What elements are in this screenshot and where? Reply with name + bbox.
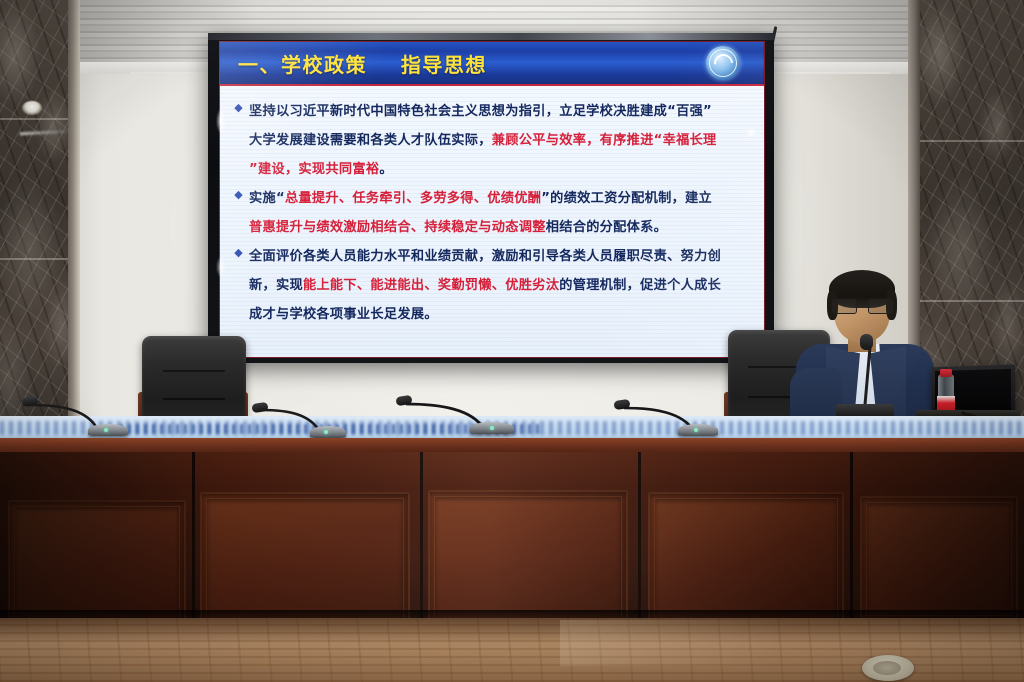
slide-text-normal: 实施“	[249, 191, 285, 206]
slide-text-highlight: 兼顾公平与效率，有序推进“幸福长理	[492, 133, 717, 148]
slide-bullet-item: ◆坚持以习近平新时代中国特色社会主义思想为指引，立足学校决胜建成“百强”	[232, 98, 748, 125]
slide-bullet-text: 坚持以习近平新时代中国特色社会主义思想为指引，立足学校决胜建成“百强”	[249, 98, 712, 125]
slide-bullet-text: ”建设，实现共同富裕。	[249, 156, 393, 183]
marble-seam	[918, 140, 1024, 142]
slide-text-normal: 全面评价各类人员能力水平和业绩贡献，激励和引导各类人员履职尽责、努力创	[249, 249, 721, 264]
projection-screen-display: 一、学校政策 指导思想 ◆坚持以习近平新时代中国特色社会主义思想为指引，立足学校…	[219, 41, 765, 358]
speaker-microphone-head	[860, 334, 873, 350]
marble-seam	[0, 258, 72, 260]
slide-bullet-continuation: 新，实现能上能下、能进能出、奖勤罚懒、优胜劣汰的管理机制，促进个人成长	[232, 272, 748, 299]
floor-outlet-cover-inner	[873, 661, 901, 675]
slide-text-highlight: 普惠提升与绩效激励相结合、持续稳定与动态调整	[249, 220, 546, 235]
mic-indicator-led	[490, 426, 494, 430]
screen-edge-glint-top	[216, 108, 226, 134]
slide-bullet-text: 新，实现能上能下、能进能出、奖勤罚懒、优胜劣汰的管理机制，促进个人成长	[249, 272, 721, 299]
glasses-bridge	[855, 304, 868, 306]
screen-hotspot	[745, 128, 757, 137]
slide-bullet-continuation: ”建设，实现共同富裕。	[232, 156, 748, 183]
chair-seam	[163, 370, 225, 372]
slide-bullet-text: 实施“总量提升、任务牵引、多劳多得、优绩优酬”的绩效工资分配机制，建立	[249, 185, 712, 212]
slide-text-normal: 坚持以习近平新时代中国特色社会主义思想为指引，立足学校决胜建成“百强”	[249, 104, 712, 119]
marble-seam	[0, 118, 72, 120]
conference-room-photo: 一、学校政策 指导思想 ◆坚持以习近平新时代中国特色社会主义思想为指引，立足学校…	[0, 0, 1024, 682]
diamond-bullet-icon	[232, 277, 245, 299]
slide-body: ◆坚持以习近平新时代中国特色社会主义思想为指引，立足学校决胜建成“百强”大学发展…	[220, 86, 764, 358]
slide-text-highlight: 总量提升、任务牵引、多劳多得、优绩优酬	[285, 191, 541, 206]
slide-bullet-item: ◆实施“总量提升、任务牵引、多劳多得、优绩优酬”的绩效工资分配机制，建立	[232, 185, 748, 212]
emblem-swoosh	[710, 50, 737, 77]
diamond-bullet-icon: ◆	[232, 248, 245, 270]
slide-title-bar: 一、学校政策 指导思想	[220, 42, 764, 86]
mic-base	[88, 424, 128, 436]
projection-screen-frame-highlight	[208, 33, 774, 40]
slide-title: 一、学校政策 指导思想	[238, 49, 487, 78]
slide-text-normal: 的管理机制，促进个人成长	[559, 278, 721, 293]
diamond-bullet-icon	[232, 132, 245, 154]
slide-text-normal: 新，实现	[249, 278, 303, 293]
diamond-bullet-icon	[232, 219, 245, 241]
diamond-bullet-icon	[232, 161, 245, 183]
slide-bullet-text: 普惠提升与绩效激励相结合、持续稳定与动态调整相结合的分配体系。	[249, 214, 667, 241]
marble-column-left-edge	[68, 0, 80, 450]
slide-text-normal: 成才与学校各项事业长足发展。	[249, 307, 438, 322]
slide-bullet-continuation: 大学发展建设需要和各类人才队伍实际，兼顾公平与效率，有序推进“幸福长理	[232, 127, 748, 154]
diamond-bullet-icon: ◆	[232, 190, 245, 212]
glasses-lens-right	[868, 299, 893, 314]
mic-indicator-led	[104, 428, 108, 432]
diamond-bullet-icon: ◆	[232, 103, 245, 125]
speaker-glasses	[832, 299, 892, 312]
slide-text-normal: 。	[379, 162, 393, 177]
slide-bullet-continuation: 成才与学校各项事业长足发展。	[232, 301, 748, 328]
bottle-cap	[940, 369, 952, 377]
slide-text-normal: 大学发展建设需要和各类人才队伍实际，	[249, 133, 492, 148]
mic-indicator-led	[694, 428, 698, 432]
chair-seam	[163, 398, 225, 400]
glasses-lens-left	[832, 299, 857, 314]
slide-bullet-item: ◆全面评价各类人员能力水平和业绩贡献，激励和引导各类人员履职尽责、努力创	[232, 243, 748, 270]
slide-text-normal: 相结合的分配体系。	[546, 220, 667, 235]
slide-bullet-text: 成才与学校各项事业长足发展。	[249, 301, 438, 328]
mic-base	[678, 424, 718, 436]
emblem-ring	[709, 49, 737, 77]
slide-text-normal: ”的绩效工资分配机制，建立	[541, 191, 712, 206]
slide-text-highlight: ”建设，实现共同富裕	[249, 162, 379, 177]
slide-bullet-continuation: 普惠提升与绩效激励相结合、持续稳定与动态调整相结合的分配体系。	[232, 214, 748, 241]
mic-indicator-led	[324, 430, 328, 434]
diamond-bullet-icon	[232, 306, 245, 328]
floor-shadow	[0, 618, 1024, 644]
university-emblem	[706, 46, 740, 80]
floor-reflection	[560, 620, 870, 666]
ceiling-light-reflection	[22, 101, 42, 115]
slide-bullet-text: 全面评价各类人员能力水平和业绩贡献，激励和引导各类人员履职尽责、努力创	[249, 243, 721, 270]
mic-base	[310, 426, 346, 438]
slide-bullet-text: 大学发展建设需要和各类人才队伍实际，兼顾公平与效率，有序推进“幸福长理	[249, 127, 717, 154]
slide-text-highlight: 能上能下、能进能出、奖勤罚懒、优胜劣汰	[303, 278, 559, 293]
marble-column-left	[0, 0, 72, 450]
screen-edge-glint-bottom	[216, 256, 226, 278]
